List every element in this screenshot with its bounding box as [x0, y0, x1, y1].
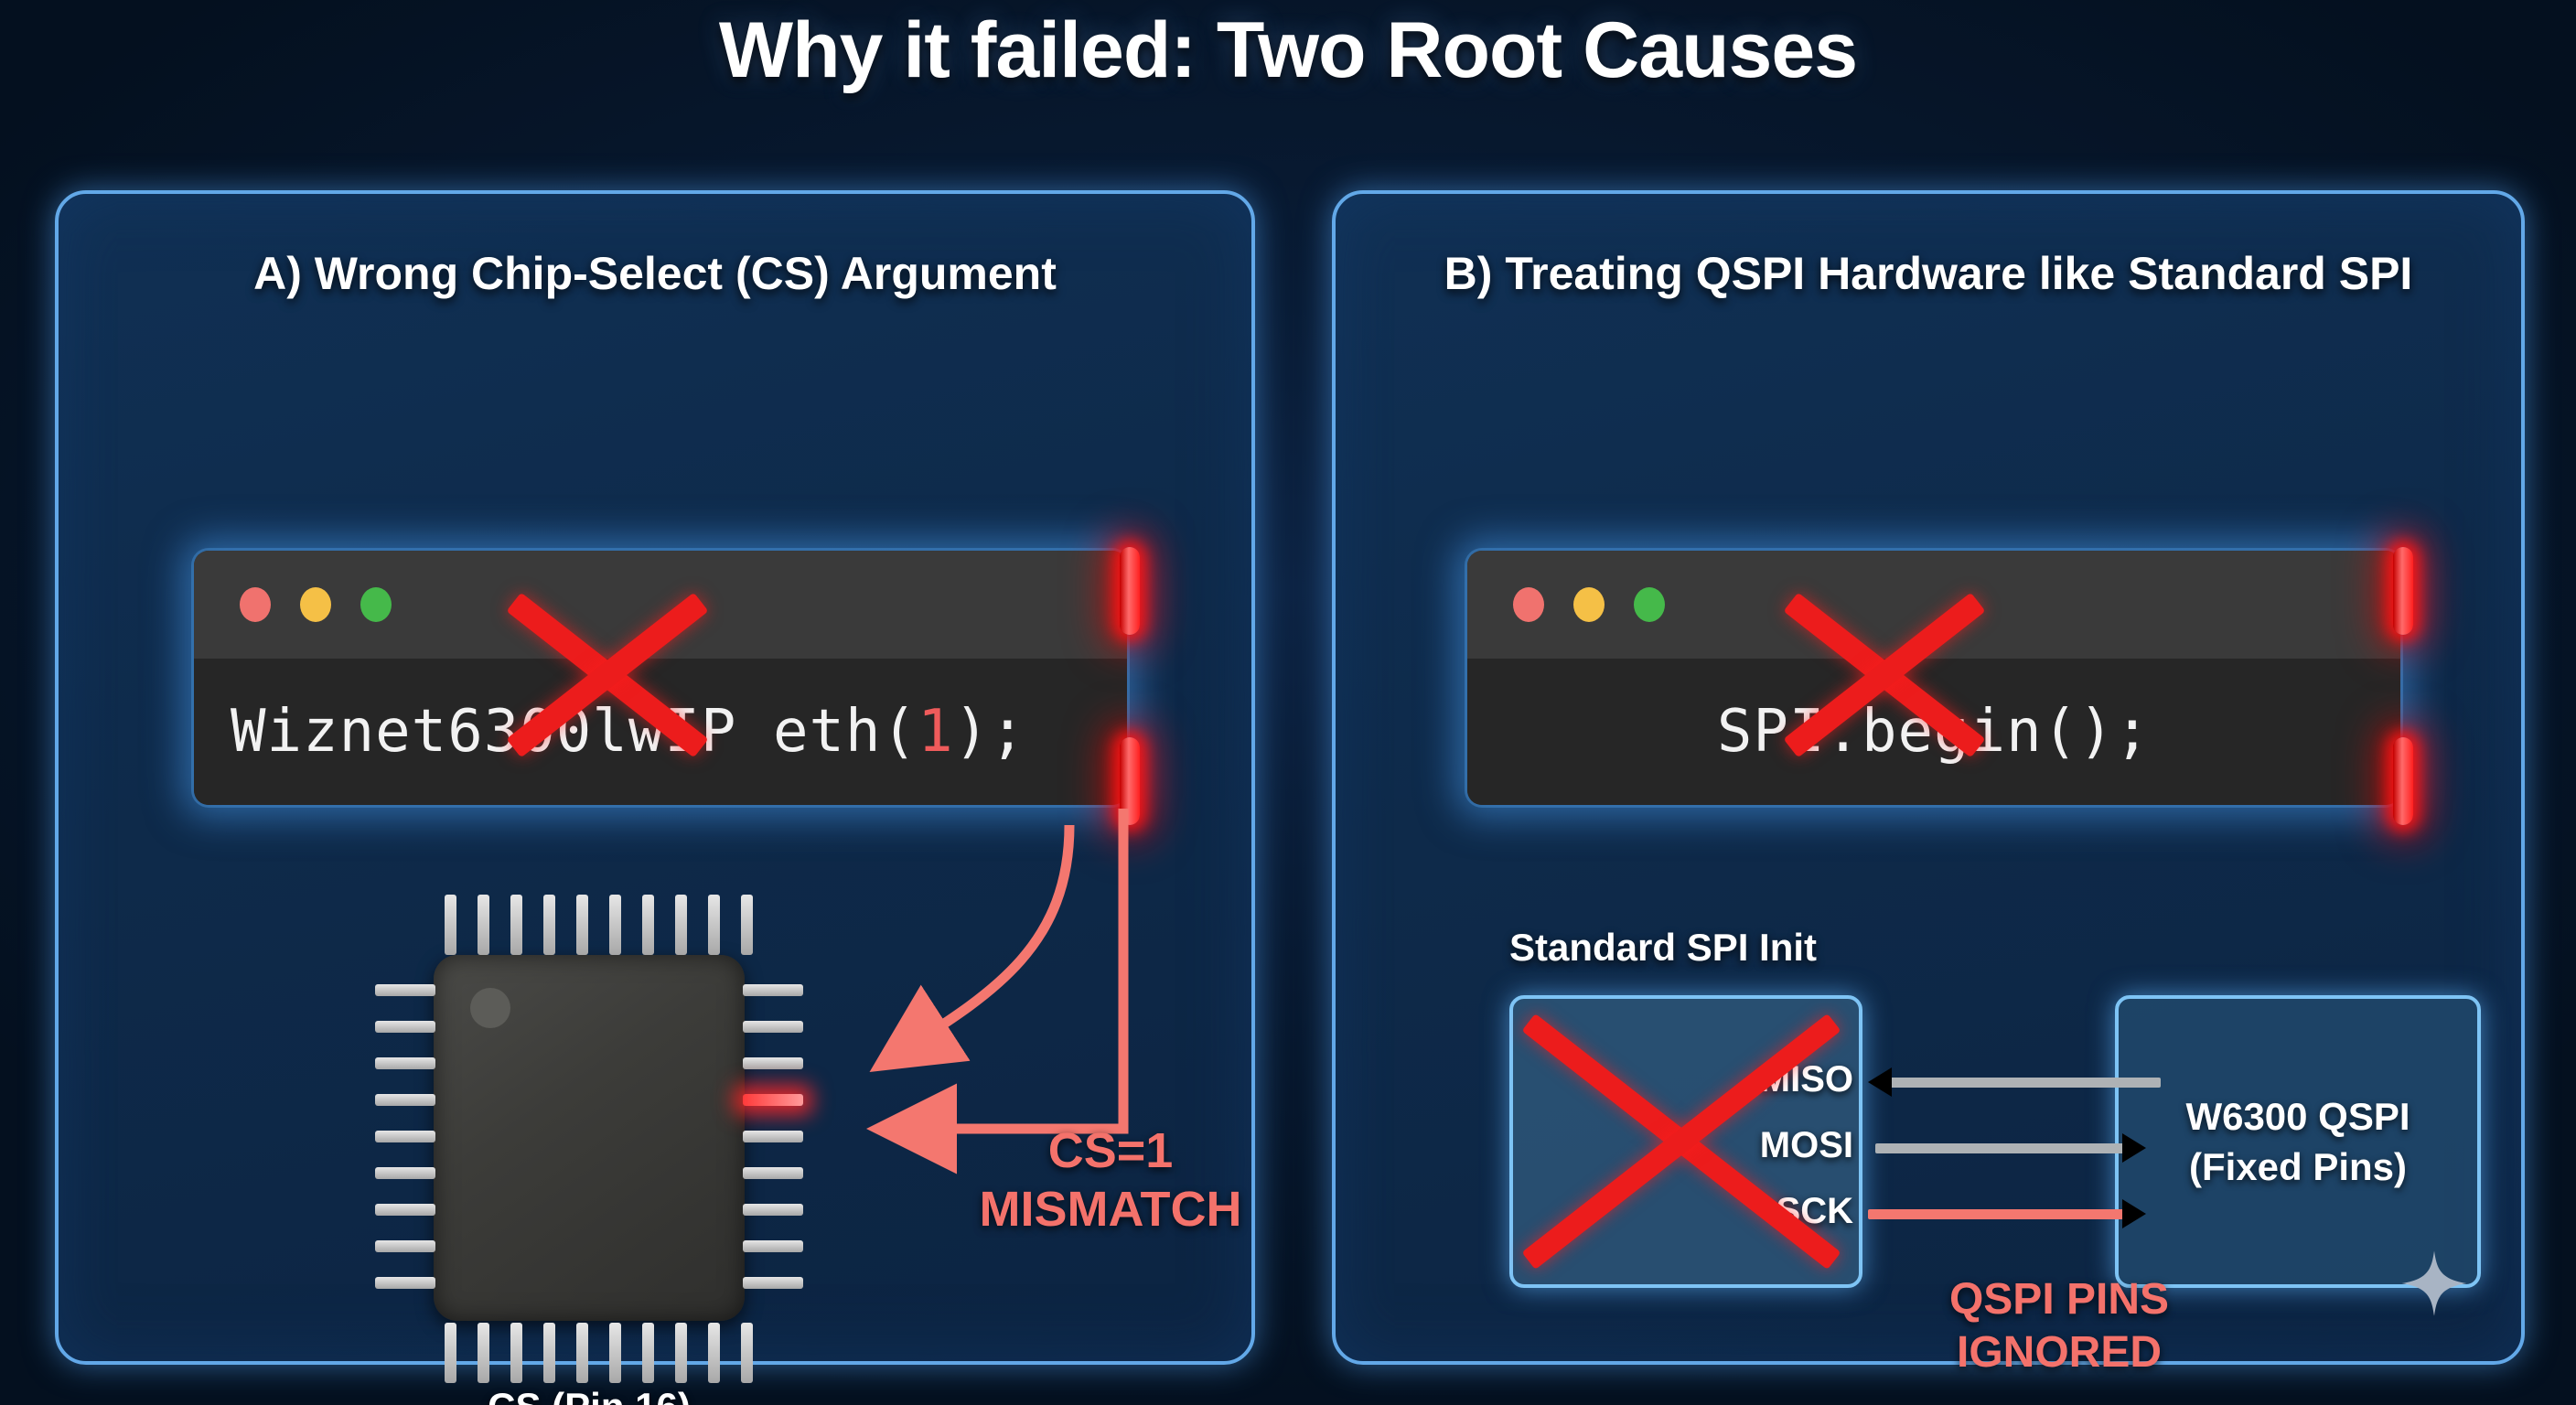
page-title: Why it failed: Two Root Causes [0, 5, 2576, 96]
qspi-pins-ignored-annotation: QSPI PINS IGNORED [1862, 1273, 2256, 1378]
minimize-yellow-dot-icon[interactable] [300, 587, 331, 622]
chip-pin-cs-highlighted [743, 1094, 803, 1106]
cs-mismatch-label: MISMATCH [918, 1181, 1303, 1239]
panel-a-title: A) Wrong Chip-Select (CS) Argument [59, 247, 1251, 300]
code-window-a-body: Wiznet6300lwIP eth(1); [194, 659, 1127, 805]
ignored-line2: IGNORED [1862, 1326, 2256, 1379]
chip-cs-pin-label: CS (Pin 16) [333, 1385, 845, 1405]
maximize-green-dot-icon[interactable] [1634, 587, 1665, 622]
cs-mismatch-annotation: CS=1 MISMATCH [918, 1122, 1303, 1239]
sparkle-star-icon [2400, 1248, 2468, 1319]
signal-label-miso: MISO [1670, 1059, 1853, 1100]
code-window-a: Wiznet6300lwIP eth(1); [194, 551, 1127, 805]
code-argument: 1 [918, 698, 954, 766]
led-indicator-b-top [2393, 547, 2413, 635]
led-indicator-b-bottom [2393, 737, 2413, 825]
panel-b-title: B) Treating QSPI Hardware like Standard … [1336, 247, 2521, 300]
code-window-b: SPI.begin(); [1467, 551, 2400, 805]
led-indicator-a-top [1120, 547, 1140, 635]
arrow-mosi [1875, 1143, 2124, 1153]
root-cause-panel-a: A) Wrong Chip-Select (CS) Argument Wizne… [55, 190, 1255, 1365]
cs-value-label: CS=1 [918, 1122, 1303, 1181]
maximize-green-dot-icon[interactable] [360, 587, 392, 622]
code-prefix: Wiznet6300lwIP eth( [231, 698, 918, 766]
chip-package-body [434, 955, 745, 1321]
arrow-sck [1868, 1209, 2124, 1219]
close-red-dot-icon[interactable] [240, 587, 271, 622]
code-window-a-titlebar [194, 551, 1127, 659]
qfp-chip-graphic: CS (Pin 16) [333, 874, 845, 1405]
code-window-b-titlebar [1467, 551, 2400, 659]
w6300-qspi-box: W6300 QSPI (Fixed Pins) [2115, 995, 2481, 1288]
code-window-b-body: SPI.begin(); [1467, 659, 2400, 805]
code-suffix: ); [954, 698, 1026, 766]
qspi-box-line1: W6300 QSPI [2185, 1091, 2410, 1142]
qspi-box-line2: (Fixed Pins) [2189, 1142, 2407, 1192]
chip-pin1-marker-icon [470, 988, 510, 1028]
arrow-miso [1890, 1078, 2161, 1088]
signal-label-mosi: MOSI [1670, 1125, 1853, 1166]
standard-spi-init-label: Standard SPI Init [1509, 926, 1817, 970]
led-indicator-a-bottom [1120, 737, 1140, 825]
close-red-dot-icon[interactable] [1513, 587, 1544, 622]
minimize-yellow-dot-icon[interactable] [1573, 587, 1605, 622]
ignored-line1: QSPI PINS [1862, 1273, 2256, 1326]
root-cause-panel-b: B) Treating QSPI Hardware like Standard … [1332, 190, 2525, 1365]
signal-label-sck: SCK [1670, 1191, 1853, 1232]
